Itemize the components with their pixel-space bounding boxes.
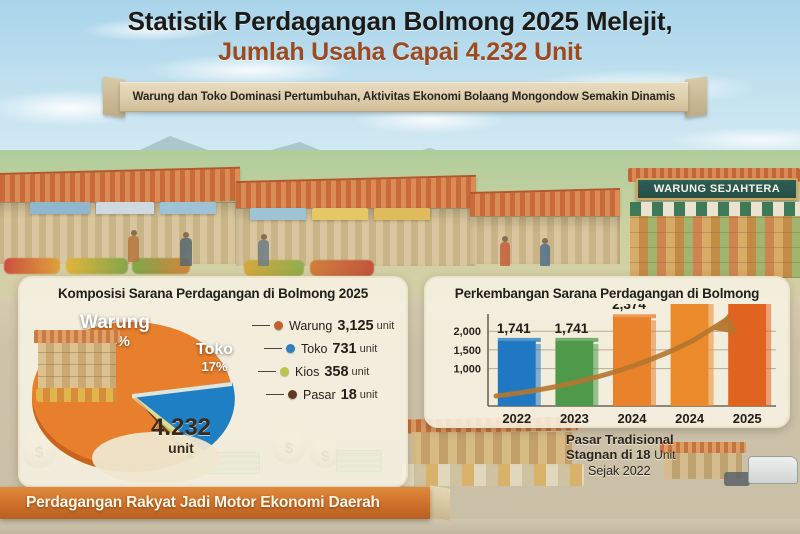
leader-line <box>264 348 282 350</box>
page-title-line1: Statistik Perdagangan Bolmong 2025 Melej… <box>0 6 800 37</box>
x-axis-tick-label: 2024 <box>675 411 705 426</box>
bar-data-label: 2,374 <box>612 304 646 312</box>
bar <box>671 304 709 406</box>
legend-dot-kios <box>280 367 289 376</box>
pasar-note-line2-rest: Unit <box>654 448 675 462</box>
pasar-note-line1: Pasar Tradisional <box>566 432 766 447</box>
leader-line <box>258 371 276 373</box>
bar-panel-title: Perkembangan Sarana Perdagangan di Bolmo… <box>426 286 788 301</box>
x-axis-tick-label: 2024 <box>618 411 648 426</box>
banner-fold <box>430 485 450 521</box>
bottom-strip <box>0 519 800 534</box>
shop-sign-text: WARUNG SEJAHTERA <box>654 183 780 195</box>
bottom-banner-text: Perdagangan Rakyat Jadi Motor Ekonomi Da… <box>0 494 380 512</box>
pie-label-toko: Toko 17% <box>196 341 233 374</box>
x-axis-tick-label: 2023 <box>560 411 589 426</box>
bar-group: 3,2202024 <box>670 304 714 426</box>
warung-illustration <box>34 330 120 404</box>
legend-item-kios: Kios 358 unit <box>252 360 404 383</box>
pie-label-toko-percent: 17% <box>196 359 233 374</box>
pie-chart-panel: Komposisi Sarana Perdagangan di Bolmong … <box>18 276 408 488</box>
legend-item-pasar: Pasar 18 unit <box>252 383 404 406</box>
legend-label-warung: Warung <box>289 319 332 333</box>
bottom-banner: Perdagangan Rakyat Jadi Motor Ekonomi Da… <box>0 487 430 519</box>
pie-legend: Warung 3,125 unit Toko 731 unit Kios 358… <box>252 314 404 406</box>
legend-item-toko: Toko 731 unit <box>252 337 404 360</box>
bar-group: 4,2322025 <box>727 304 771 426</box>
x-axis-tick-label: 2022 <box>502 411 531 426</box>
header-block: Statistik Perdagangan Bolmong 2025 Melej… <box>0 6 800 68</box>
legend-dot-toko <box>286 344 295 353</box>
shop-canopy <box>630 202 800 216</box>
legend-unit-pasar: unit <box>360 389 378 401</box>
bar-chart-panel: Perkembangan Sarana Perdagangan di Bolmo… <box>424 276 790 428</box>
leader-line <box>252 325 270 327</box>
bar-group: 1,7412022 <box>497 321 541 426</box>
pasar-note: Pasar Tradisional Stagnan di 18 Unit Sej… <box>566 432 766 479</box>
bar <box>728 304 766 406</box>
pie-label-toko-name: Toko <box>196 341 233 358</box>
legend-value-warung: 3,125 <box>337 318 373 334</box>
bar-chart: 1,0001,5002,0001,74120221,74120232,37420… <box>426 304 792 430</box>
pasar-note-line2-bold: Stagnan di 18 <box>566 447 651 462</box>
legend-label-kios: Kios <box>295 365 319 379</box>
infographic-poster: WARUNG SEJAHTERA Statistik Perdagangan B… <box>0 0 800 534</box>
bar-data-label: 1,741 <box>497 321 531 336</box>
legend-dot-pasar <box>288 390 297 399</box>
bar-group: 1,7412023 <box>555 321 599 426</box>
pie-total: 4.232 unit <box>116 416 246 456</box>
pie-total-unit: unit <box>116 440 246 456</box>
legend-unit-kios: unit <box>352 366 370 378</box>
y-axis-tick-label: 1,500 <box>453 345 481 357</box>
shop-shelves <box>630 216 800 278</box>
shop-sign: WARUNG SEJAHTERA <box>636 178 798 200</box>
pie-panel-title: Komposisi Sarana Perdagangan di Bolmong … <box>20 286 406 301</box>
page-title-line2: Jumlah Usaha Capai 4.232 Unit <box>0 37 800 68</box>
subtitle-ribbon: Warung dan Toko Dominasi Pertumbuhan, Ak… <box>120 82 688 112</box>
subtitle-text: Warung dan Toko Dominasi Pertumbuhan, Ak… <box>133 91 676 103</box>
pasar-note-line2: Stagnan di 18 Unit <box>566 447 766 463</box>
legend-value-toko: 731 <box>332 341 356 357</box>
y-axis-tick-label: 2,000 <box>453 326 481 338</box>
legend-item-warung: Warung 3,125 unit <box>252 314 404 337</box>
x-axis-tick-label: 2025 <box>733 411 762 426</box>
legend-unit-toko: unit <box>360 343 378 355</box>
legend-dot-warung <box>274 321 283 330</box>
legend-value-pasar: 18 <box>341 387 357 403</box>
leader-line <box>266 394 284 396</box>
bar-chart-svg: 1,0001,5002,0001,74120221,74120232,37420… <box>426 304 792 430</box>
ribbon-tail-right <box>685 76 707 117</box>
legend-label-toko: Toko <box>301 342 327 356</box>
legend-label-pasar: Pasar <box>303 388 336 402</box>
bar-data-label: 1,741 <box>555 321 589 336</box>
pie-total-value: 4.232 <box>116 416 246 440</box>
legend-unit-warung: unit <box>377 320 395 332</box>
pasar-note-line3: Sejak 2022 <box>566 463 766 479</box>
bar <box>555 341 593 406</box>
y-axis-tick-label: 1,000 <box>453 364 481 376</box>
legend-value-kios: 358 <box>324 364 348 380</box>
